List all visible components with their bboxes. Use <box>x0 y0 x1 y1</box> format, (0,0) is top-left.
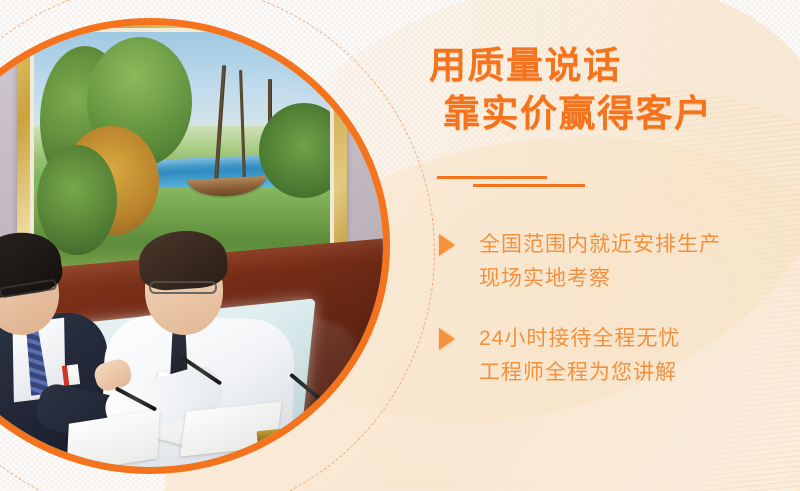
promo-banner: 用质量说话 靠实价赢得客户 全国范围内就近安排生产 现场实地考察 24小时接待全… <box>0 0 800 491</box>
arrow-right-icon <box>439 328 455 350</box>
person-suit-name-badge <box>62 364 80 386</box>
person-shirt-glasses <box>149 281 217 294</box>
headline-line-1: 用质量说话 <box>429 42 789 90</box>
circular-photo <box>0 18 390 474</box>
photo-inner <box>0 25 383 467</box>
text-column: 用质量说话 靠实价赢得客户 全国范围内就近安排生产 现场实地考察 24小时接待全… <box>415 0 800 491</box>
headline-divider <box>437 176 637 192</box>
feature-item-line-2: 工程师全程为您讲解 <box>479 356 793 390</box>
divider-line-top <box>437 176 547 179</box>
headline-line-2: 靠实价赢得客户 <box>429 90 789 138</box>
feature-item-line-1: 24小时接待全程无忧 <box>479 322 793 356</box>
painting-tree <box>37 145 117 255</box>
headline-block: 用质量说话 靠实价赢得客户 <box>429 42 789 138</box>
feature-item: 24小时接待全程无忧 工程师全程为您讲解 <box>433 322 793 390</box>
divider-line-bottom <box>473 184 585 187</box>
feature-item-line-1: 全国范围内就近安排生产 <box>479 228 793 262</box>
arrow-right-icon <box>439 234 455 256</box>
feature-list: 全国范围内就近安排生产 现场实地考察 24小时接待全程无忧 工程师全程为您讲解 <box>433 228 793 416</box>
feature-item-line-2: 现场实地考察 <box>479 262 793 296</box>
feature-item: 全国范围内就近安排生产 现场实地考察 <box>433 228 793 296</box>
